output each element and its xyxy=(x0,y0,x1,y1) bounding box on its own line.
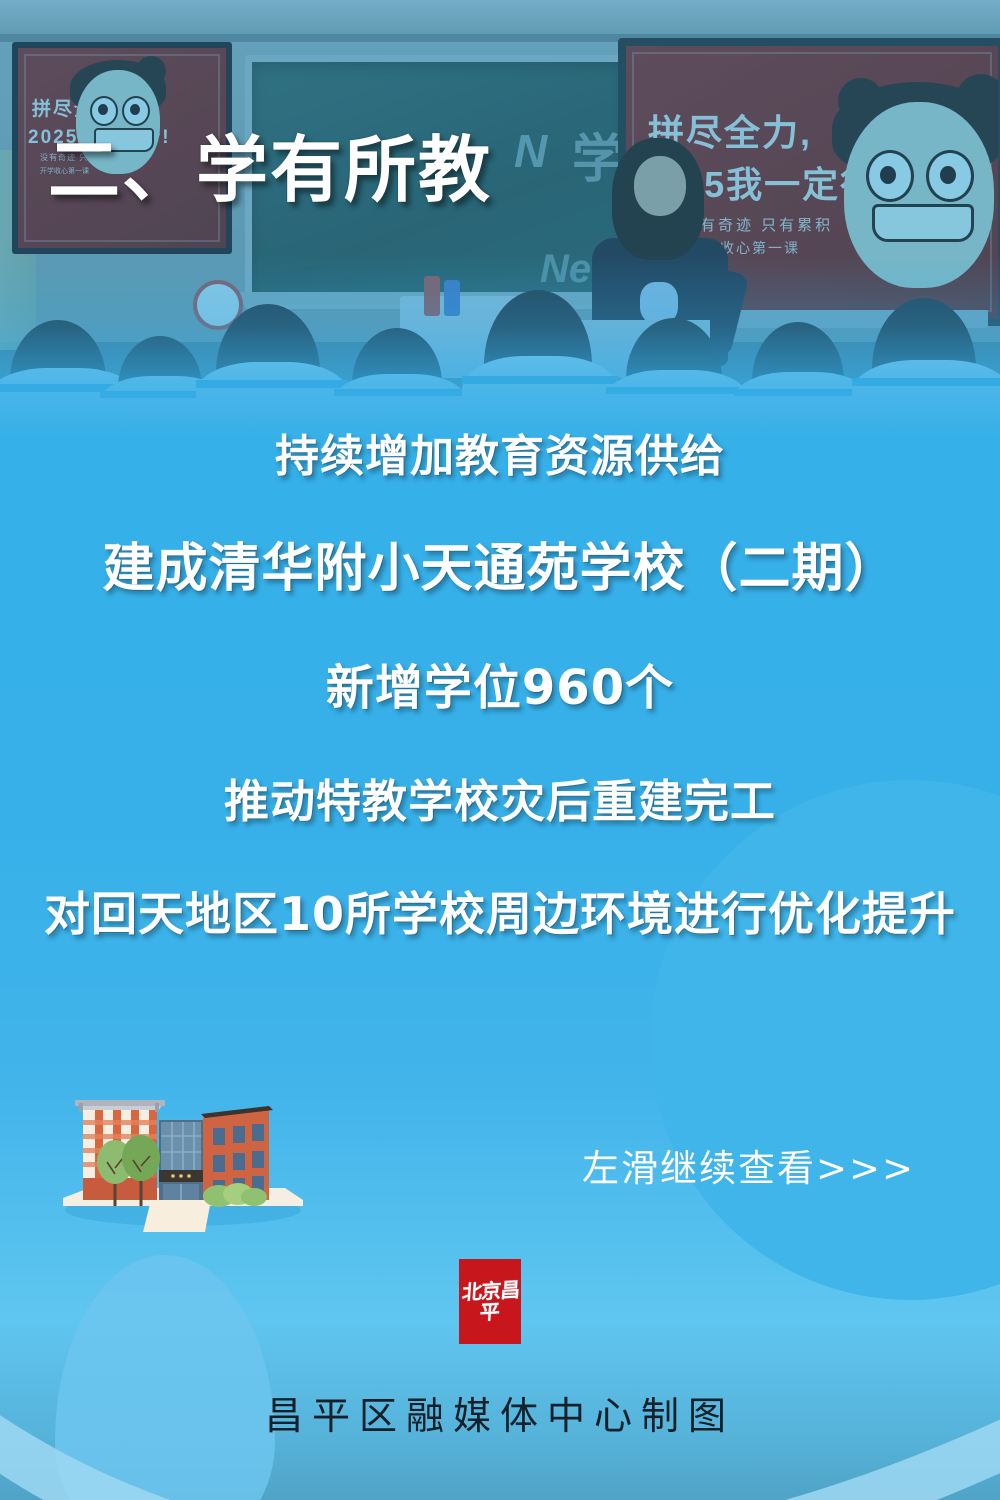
logo-label: 北京昌平 xyxy=(457,1279,522,1324)
poster-canvas: N 学 期 New 开学 拼尽全力, 2025我一定行! 没有奇迹 只有累积 开… xyxy=(0,0,1000,1500)
classroom-photo: N 学 期 New 开学 拼尽全力, 2025我一定行! 没有奇迹 只有累积 开… xyxy=(0,0,1000,440)
content-line-5: 对回天地区10所学校周边环境进行优化提升 xyxy=(0,878,1000,944)
content-line-1: 持续增加教育资源供给 xyxy=(0,420,1000,484)
content-line-2: 建成清华附小天通苑学校（二期） xyxy=(0,526,1000,601)
footer-credit: 昌平区融媒体中心制图 xyxy=(0,1385,1000,1440)
page-title: 二、学有所教 xyxy=(48,134,492,206)
beijing-changping-logo: 北京昌平 xyxy=(459,1259,521,1344)
content-line-4: 推动特教学校灾后重建完工 xyxy=(0,765,1000,830)
decor-ellipse-left xyxy=(55,1255,275,1500)
content-line-3: 新增学位960个 xyxy=(0,648,1000,718)
decor-circle-right xyxy=(650,780,1000,1300)
swipe-hint[interactable]: 左滑继续查看>>> xyxy=(0,1138,1000,1192)
